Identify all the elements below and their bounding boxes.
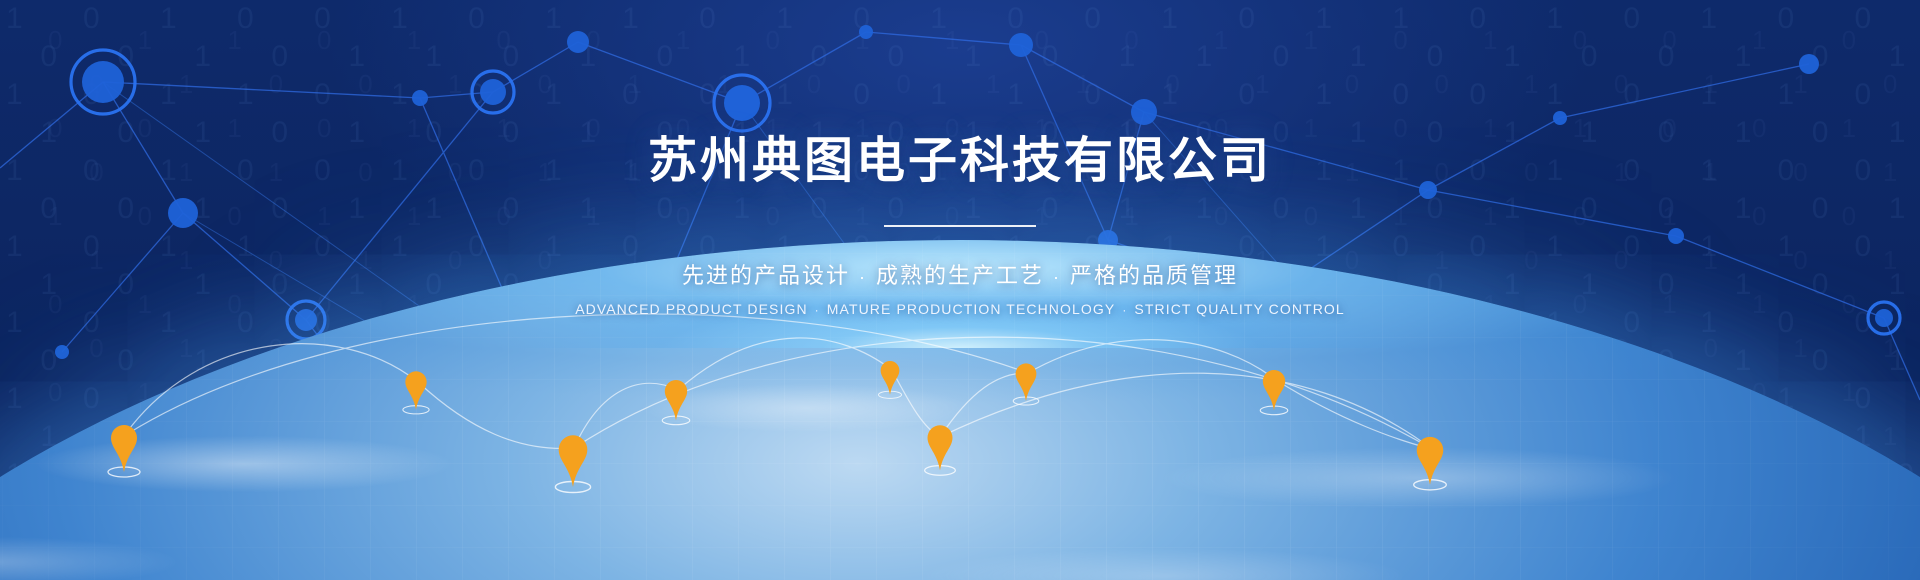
banner-content: 苏州典图电子科技有限公司 先进的产品设计·成熟的生产工艺·严格的品质管理 ADV… [0,0,1920,317]
subtitle-part: 成熟的生产工艺 [876,263,1044,288]
map-pin-6 [925,425,956,475]
map-pin-3-marker [559,435,588,487]
map-pin-4 [662,380,690,425]
map-pin-6-marker [928,425,953,470]
subtitle-chinese: 先进的产品设计·成熟的生产工艺·严格的品质管理 [0,258,1920,290]
map-pin-8 [1260,370,1288,415]
map-pin-4-marker [665,380,687,420]
map-pin-9-marker [1417,437,1444,485]
map-pin-9 [1414,437,1447,490]
map-pin-5 [878,361,901,398]
map-pin-3 [555,435,590,492]
company-title: 苏州典图电子科技有限公司 [0,134,1920,189]
map-pin-1 [108,425,140,477]
subtitle-separator: · [1115,303,1134,317]
map-pin-2-marker [405,371,426,410]
map-pin-2 [403,371,429,414]
subtitle-part: ADVANCED PRODUCT DESIGN [575,301,807,317]
subtitle-part: 严格的品质管理 [1070,263,1238,288]
subtitle-separator: · [808,303,827,317]
hero-banner: 1 0 1 0 0 1 0 1 1 0 1 0 1 0 0 1 0 1 1 0 … [0,0,1920,580]
map-pin-7-marker [1016,363,1037,401]
subtitle-part: STRICT QUALITY CONTROL [1134,301,1344,317]
subtitle-part: MATURE PRODUCTION TECHNOLOGY [827,301,1116,317]
title-divider [884,225,1036,227]
subtitle-english: ADVANCED PRODUCT DESIGN·MATURE PRODUCTIO… [0,301,1920,317]
subtitle-separator: · [850,267,876,287]
subtitle-separator: · [1044,267,1070,287]
map-pin-5-marker [881,361,900,395]
map-pin-1-marker [111,425,137,472]
subtitle-part: 先进的产品设计 [682,263,850,288]
map-pin-8-marker [1263,370,1285,410]
